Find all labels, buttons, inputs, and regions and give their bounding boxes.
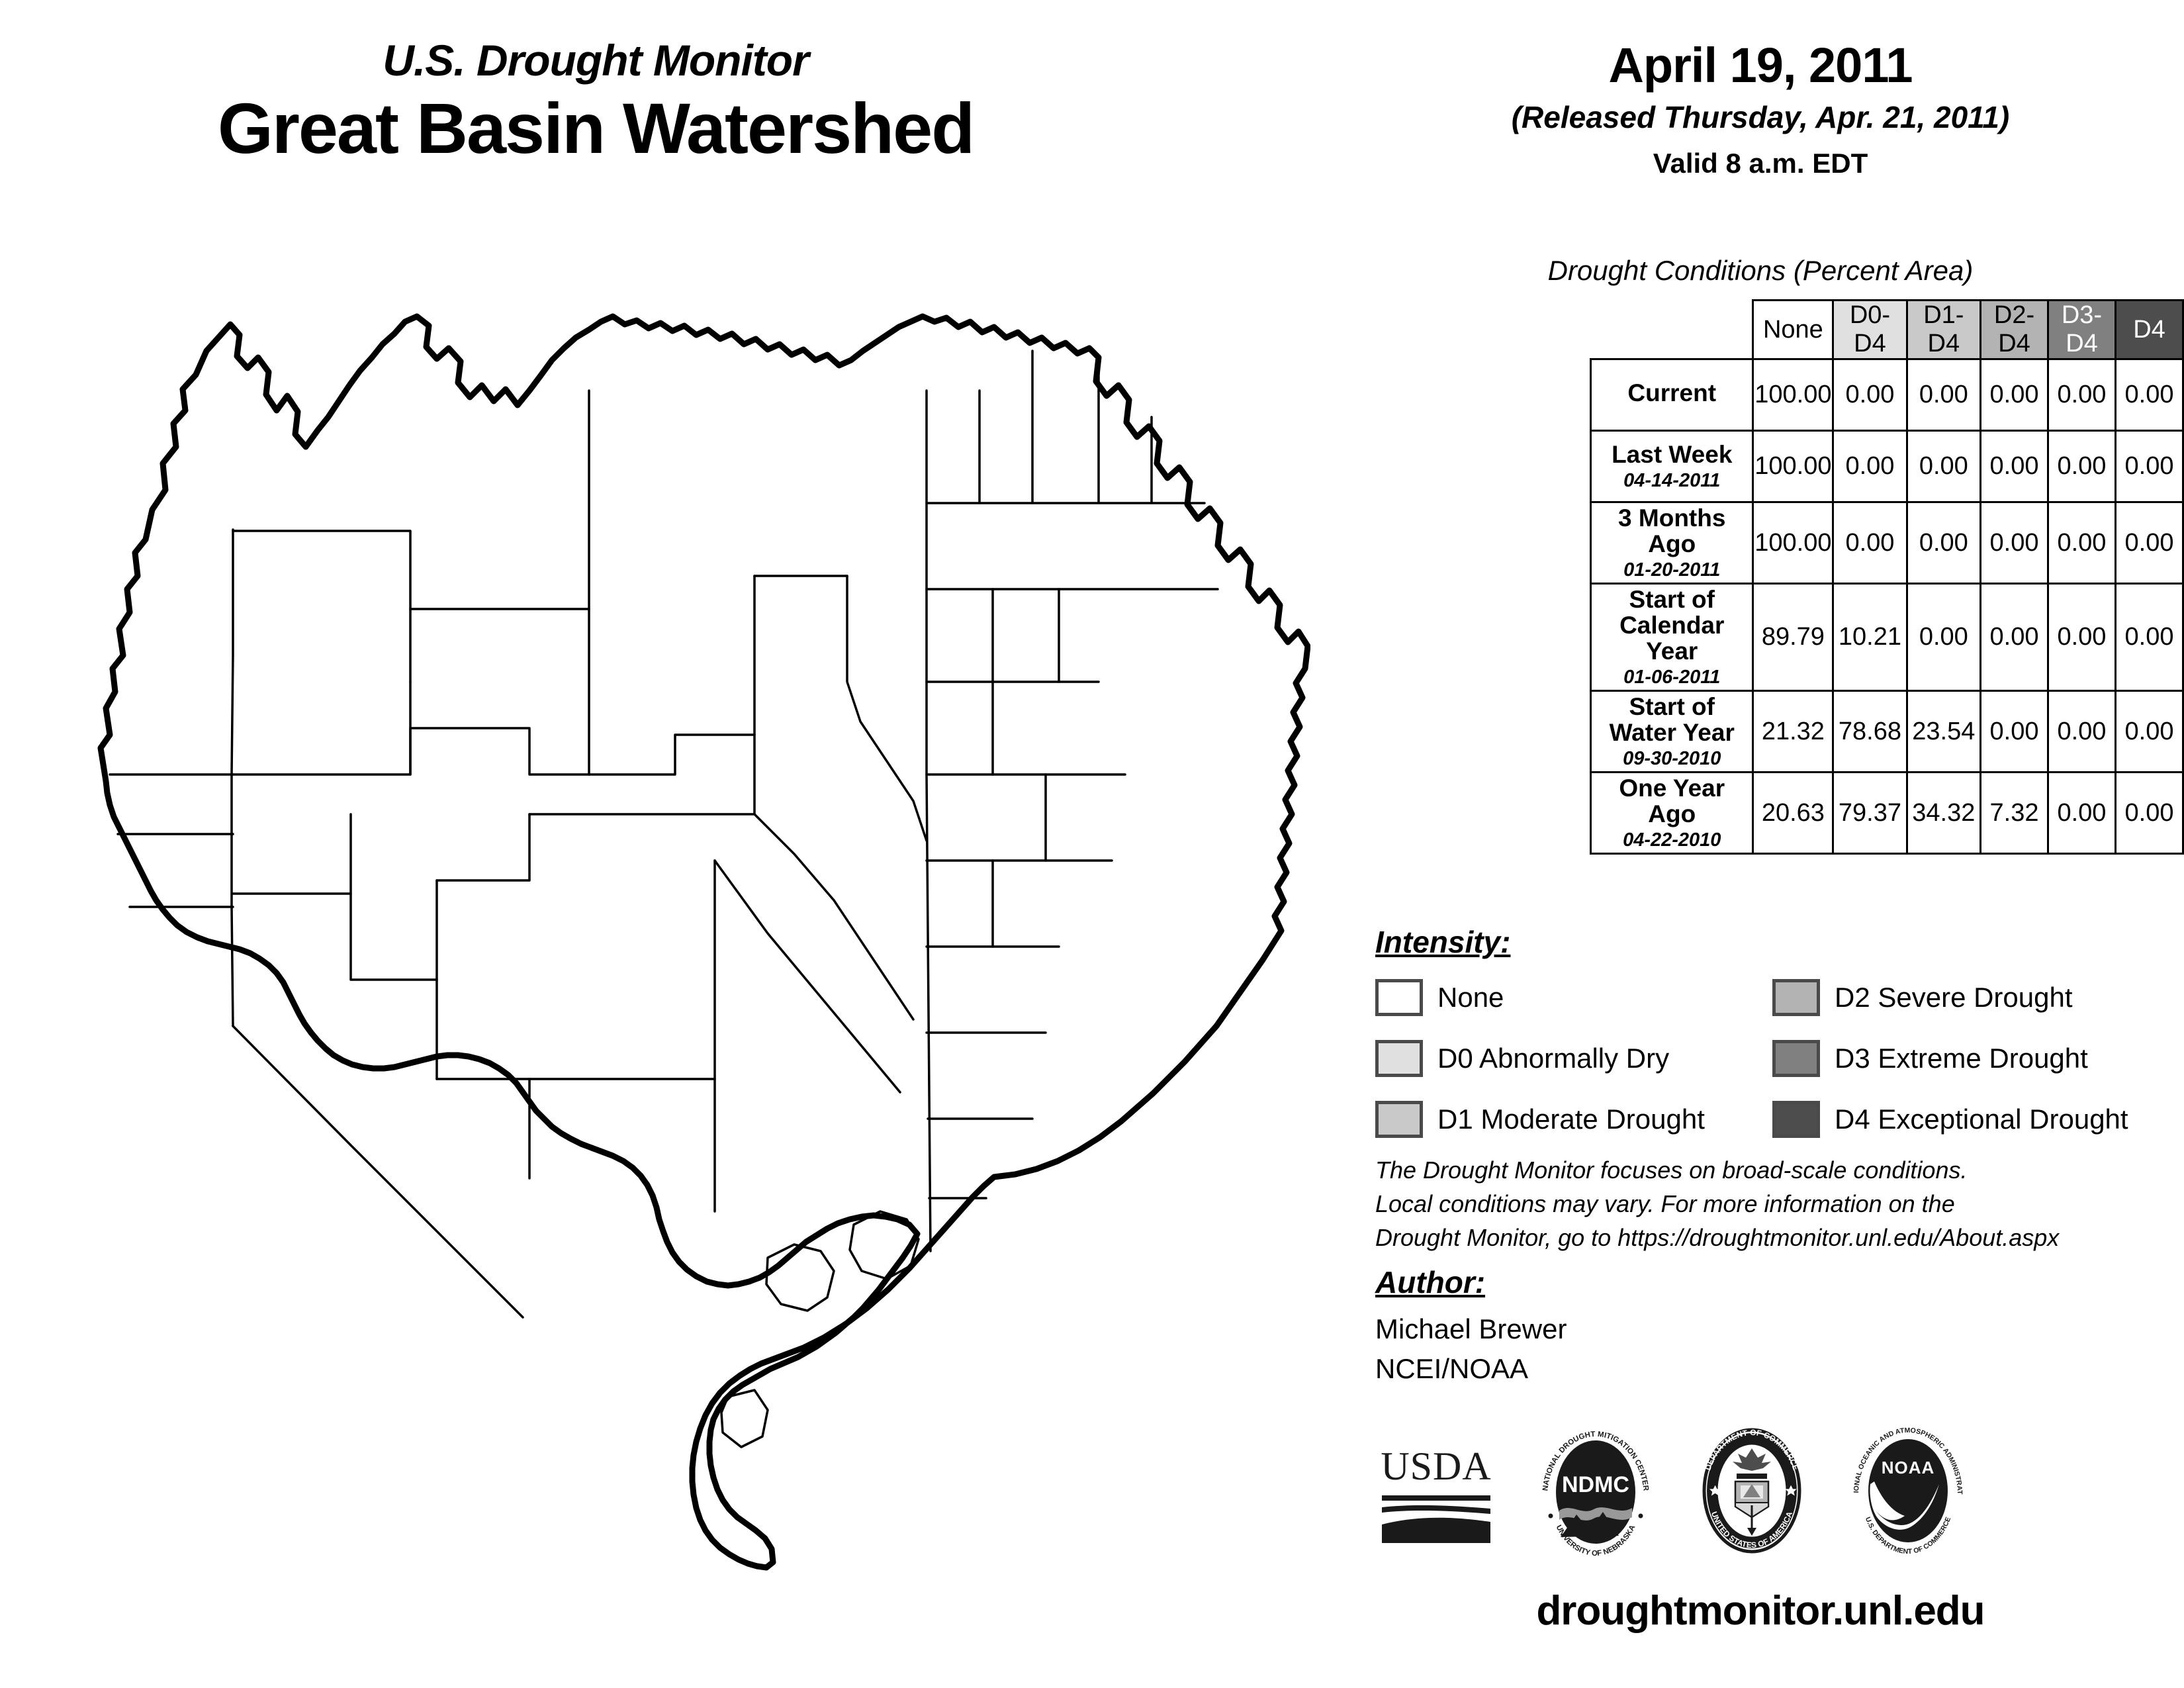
region-title: Great Basin Watershed [0,89,1191,169]
table-body: Current 100.00 0.00 0.00 0.00 0.00 0.00 … [1591,359,2183,854]
cell-d4: 0.00 [2115,431,2183,502]
cell-d3-d4: 0.00 [2048,359,2115,431]
table-row: 3 Months Ago 01-20-2011 100.00 0.00 0.00… [1591,502,2183,584]
row-header-current: Current [1591,359,1753,431]
drought-map[interactable] [66,311,1310,1609]
county-line [232,530,233,1026]
county-line [766,1244,834,1311]
legend-swatch-none [1375,979,1423,1016]
cell-d3-d4: 0.00 [2048,584,2115,691]
legend-item-d3: D3 Extreme Drought [1772,1034,2156,1083]
released-date: (Released Thursday, Apr. 21, 2011) [1337,101,2184,134]
cell-none: 100.00 [1753,431,1833,502]
row-label: One Year Ago [1597,776,1747,827]
usda-logo-svg: USDA [1370,1432,1502,1551]
cell-d1-d4: 0.00 [1907,502,1980,584]
disclaimer-line-3: Drought Monitor, go to https://droughtmo… [1375,1221,2176,1254]
intensity-legend: None D2 Severe Drought D0 Abnormally Dry… [1375,973,2169,1144]
cell-none: 100.00 [1753,359,1833,431]
table-head: None D0-D4 D1-D4 D2-D4 D3-D4 D4 [1591,301,2183,359]
usda-logo: USDA [1370,1432,1502,1554]
column-header-d2-d4: D2-D4 [1981,301,2048,359]
cell-d3-d4: 0.00 [2048,431,2115,502]
cell-d4: 0.00 [2115,502,2183,584]
cell-d0-d4: 10.21 [1833,584,1907,691]
cell-d0-d4: 0.00 [1833,359,1907,431]
legend-label: None [1437,982,1504,1013]
row-date: 04-22-2010 [1597,830,1747,850]
cell-none: 100.00 [1753,502,1833,584]
doc-seal-svg: DEPARTMENT OF COMMERCE UNITED STATES OF … [1689,1423,1815,1559]
cell-d1-d4: 0.00 [1907,431,1980,502]
info-panel: April 19, 2011 (Released Thursday, Apr. … [1337,0,2184,1688]
table-row: Last Week 04-14-2011 100.00 0.00 0.00 0.… [1591,431,2183,502]
legend-item-d1: D1 Moderate Drought [1375,1095,1759,1144]
cell-d0-d4: 0.00 [1833,502,1907,584]
cell-d3-d4: 0.00 [2048,691,2115,773]
row-label: Current [1597,381,1747,406]
date-block: April 19, 2011 (Released Thursday, Apr. … [1337,40,2184,179]
column-header-d1-d4: D1-D4 [1907,301,1980,359]
program-title: U.S. Drought Monitor [0,38,1191,82]
noaa-logo-svg: NATIONAL OCEANIC AND ATMOSPHERIC ADMINIS… [1845,1423,1971,1559]
cell-d4: 0.00 [2115,584,2183,691]
column-header-none: None [1753,301,1833,359]
cell-d0-d4: 79.37 [1833,773,1907,854]
legend-item-none: None [1375,973,1759,1022]
author-heading: Author: [1375,1264,1485,1300]
cell-d1-d4: 34.32 [1907,773,1980,854]
row-header-start-of-calendar-year: Start ofCalendar Year 01-06-2011 [1591,584,1753,691]
county-line [721,1390,768,1447]
department-of-commerce-seal: DEPARTMENT OF COMMERCE UNITED STATES OF … [1689,1423,1815,1562]
table-row: One Year Ago 04-22-2010 20.63 79.37 34.3… [1591,773,2183,854]
svg-text:NOAA: NOAA [1882,1458,1935,1477]
cell-d2-d4: 0.00 [1981,691,2048,773]
legend-swatch-d0 [1375,1040,1423,1077]
row-header-start-of-water-year: Start ofWater Year 09-30-2010 [1591,691,1753,773]
cell-d1-d4: 0.00 [1907,359,1980,431]
legend-item-d4: D4 Exceptional Drought [1772,1095,2156,1144]
author-block: Michael Brewer NCEI/NOAA [1375,1309,1567,1388]
table-row: Current 100.00 0.00 0.00 0.00 0.00 0.00 [1591,359,2183,431]
table-caption: Drought Conditions (Percent Area) [1337,255,2184,287]
valid-date: April 19, 2011 [1337,40,2184,91]
row-label: Last Week [1597,442,1747,468]
cell-d1-d4: 23.54 [1907,691,1980,773]
drought-conditions-table: None D0-D4 D1-D4 D2-D4 D3-D4 D4 Current … [1590,299,2184,855]
svg-text:USDA: USDA [1381,1444,1491,1488]
table-row: Start ofWater Year 09-30-2010 21.32 78.6… [1591,691,2183,773]
cell-d0-d4: 0.00 [1833,431,1907,502]
legend-label: D3 Extreme Drought [1835,1043,2088,1074]
legend-swatch-d4 [1772,1101,1820,1138]
row-date: 01-06-2011 [1597,667,1747,687]
footer-url: droughtmonitor.unl.edu [1337,1587,2184,1634]
disclaimer-line-1: The Drought Monitor focuses on broad-sca… [1375,1153,2176,1187]
table-corner-cell [1591,301,1753,359]
author-name: Michael Brewer [1375,1309,1567,1349]
svg-text:NDMC: NDMC [1562,1472,1629,1497]
legend-label: D0 Abnormally Dry [1437,1043,1669,1074]
row-label: 3 Months Ago [1597,506,1747,557]
great-basin-watershed-map-svg [66,311,1310,1609]
column-header-d4: D4 [2115,301,2183,359]
cell-none: 20.63 [1753,773,1833,854]
author-affiliation: NCEI/NOAA [1375,1349,1567,1389]
cell-d2-d4: 0.00 [1981,431,2048,502]
logo-row: USDA NATIONAL DROUGHT MITIGATION CENTER … [1363,1417,2164,1569]
row-date: 09-30-2010 [1597,749,1747,769]
cell-d2-d4: 7.32 [1981,773,2048,854]
legend-item-d0: D0 Abnormally Dry [1375,1034,1759,1083]
disclaimer-text: The Drought Monitor focuses on broad-sca… [1375,1153,2176,1254]
cell-none: 89.79 [1753,584,1833,691]
cell-none: 21.32 [1753,691,1833,773]
cell-d4: 0.00 [2115,773,2183,854]
valid-time: Valid 8 a.m. EDT [1337,148,2184,179]
noaa-logo: NATIONAL OCEANIC AND ATMOSPHERIC ADMINIS… [1845,1423,1971,1562]
row-date: 01-20-2011 [1597,560,1747,580]
map-panel: U.S. Drought Monitor Great Basin Watersh… [0,0,1337,1688]
legend-swatch-d1 [1375,1101,1423,1138]
table-row: Start ofCalendar Year 01-06-2011 89.79 1… [1591,584,2183,691]
column-header-d0-d4: D0-D4 [1833,301,1907,359]
column-header-d3-d4: D3-D4 [2048,301,2115,359]
row-header-one-year-ago: One Year Ago 04-22-2010 [1591,773,1753,854]
intensity-heading: Intensity: [1375,924,1510,960]
row-header-last-week: Last Week 04-14-2011 [1591,431,1753,502]
cell-d4: 0.00 [2115,691,2183,773]
cell-d0-d4: 78.68 [1833,691,1907,773]
ndmc-logo: NATIONAL DROUGHT MITIGATION CENTER UNIVE… [1533,1423,1659,1562]
legend-label: D1 Moderate Drought [1437,1103,1705,1135]
row-label: Start ofWater Year [1597,694,1747,746]
cell-d2-d4: 0.00 [1981,359,2048,431]
cell-d3-d4: 0.00 [2048,773,2115,854]
cell-d1-d4: 0.00 [1907,584,1980,691]
row-header-3-months-ago: 3 Months Ago 01-20-2011 [1591,502,1753,584]
cell-d3-d4: 0.00 [2048,502,2115,584]
disclaimer-line-2: Local conditions may vary. For more info… [1375,1187,2176,1221]
row-label: Start ofCalendar Year [1597,587,1747,665]
legend-item-d2: D2 Severe Drought [1772,973,2156,1022]
legend-label: D4 Exceptional Drought [1835,1103,2128,1135]
title-block: U.S. Drought Monitor Great Basin Watersh… [0,38,1191,169]
cell-d2-d4: 0.00 [1981,502,2048,584]
row-date: 04-14-2011 [1597,471,1747,491]
cell-d2-d4: 0.00 [1981,584,2048,691]
legend-swatch-d2 [1772,979,1820,1016]
cell-d4: 0.00 [2115,359,2183,431]
legend-swatch-d3 [1772,1040,1820,1077]
legend-label: D2 Severe Drought [1835,982,2073,1013]
ndmc-logo-svg: NATIONAL DROUGHT MITIGATION CENTER UNIVE… [1533,1423,1659,1559]
table-header-row: None D0-D4 D1-D4 D2-D4 D3-D4 D4 [1591,301,2183,359]
